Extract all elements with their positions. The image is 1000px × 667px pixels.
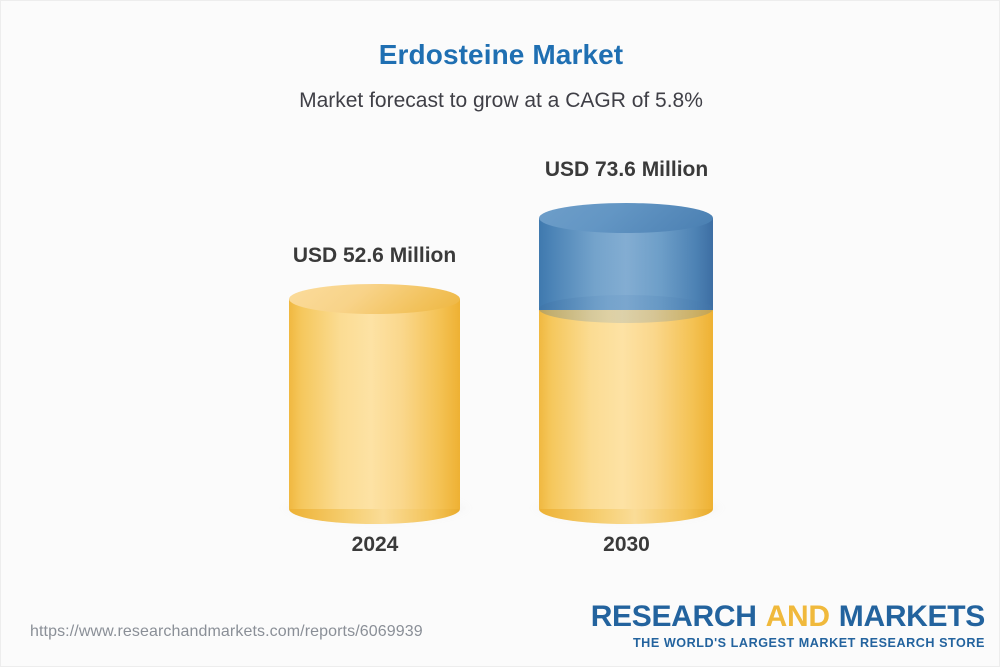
bar-2030-segment-base: [539, 308, 713, 509]
bar-2030-segment-seam: [539, 295, 713, 323]
category-label-2030: 2030: [539, 533, 714, 557]
category-label-2024: 2024: [289, 533, 461, 557]
bar-2030-top-ellipse: [539, 203, 713, 233]
chart-canvas: Erdosteine Market Market forecast to gro…: [0, 0, 1000, 667]
bar-2024-body: [289, 299, 460, 509]
logo-word-research: RESEARCH: [591, 600, 757, 633]
logo-tagline: THE WORLD'S LARGEST MARKET RESEARCH STOR…: [591, 637, 985, 650]
chart-subtitle: Market forecast to grow at a CAGR of 5.8…: [1, 89, 1000, 113]
data-label-2024: USD 52.6 Million: [234, 244, 515, 268]
brand-logo[interactable]: RESEARCHANDMARKETS THE WORLD'S LARGEST M…: [591, 602, 985, 650]
logo-word-markets: MARKETS: [839, 600, 985, 633]
chart-title: Erdosteine Market: [1, 39, 1000, 71]
bar-2024-top-ellipse: [289, 284, 460, 314]
data-label-2030: USD 73.6 Million: [486, 158, 767, 182]
logo-word-and: AND: [766, 600, 830, 633]
logo-wordmark: RESEARCHANDMARKETS: [591, 602, 985, 632]
report-url[interactable]: https://www.researchandmarkets.com/repor…: [30, 623, 423, 641]
